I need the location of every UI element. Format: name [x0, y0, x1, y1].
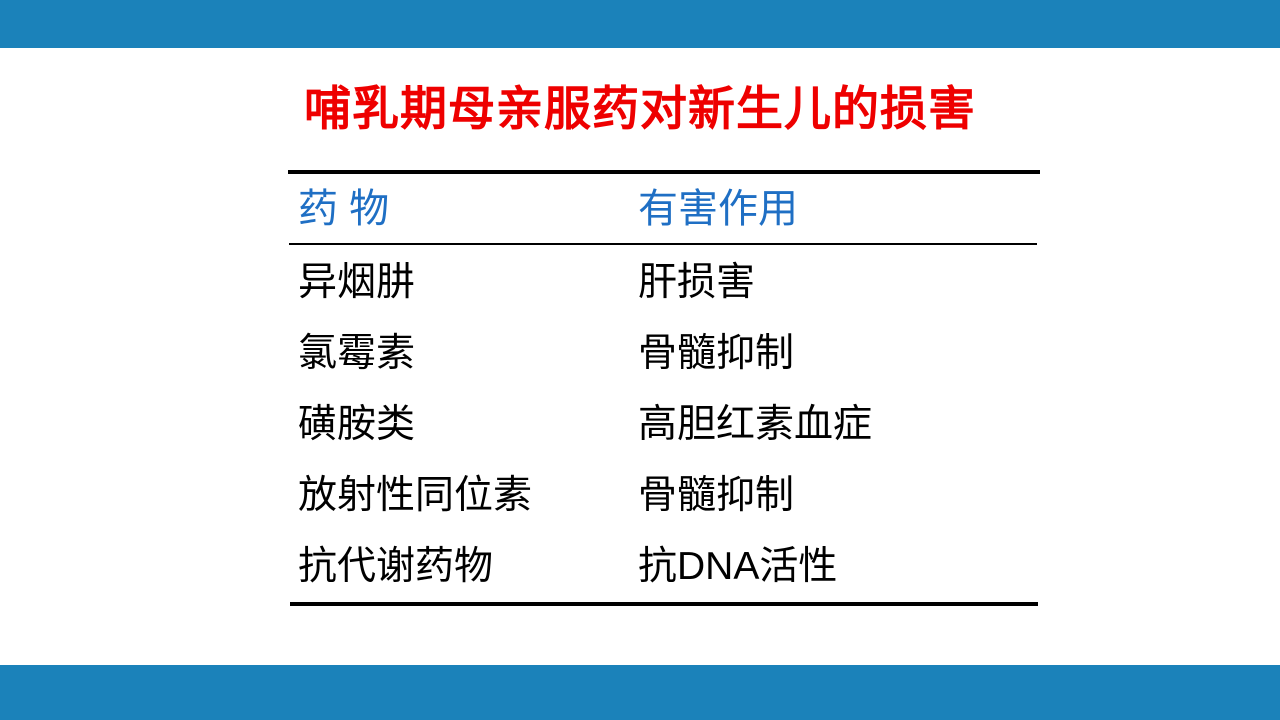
cell-drug-name: 异烟肼 — [288, 260, 638, 306]
table-header-row: 药 物 有害作用 — [288, 174, 1040, 243]
column-header-drug: 药 物 — [288, 186, 638, 232]
drug-harm-table: 药 物 有害作用 异烟肼 肝损害 氯霉素 骨髓抑制 磺胺类 高胆红素血症 放射性… — [288, 170, 1040, 606]
table-row: 放射性同位素 骨髓抑制 — [288, 460, 1040, 531]
table-row: 氯霉素 骨髓抑制 — [288, 318, 1040, 389]
cell-harmful-effect: 高胆红素血症 — [638, 402, 872, 448]
top-accent-band — [0, 0, 1280, 48]
column-header-effect: 有害作用 — [638, 186, 798, 232]
cell-drug-name: 磺胺类 — [288, 402, 638, 448]
cell-drug-name: 氯霉素 — [288, 331, 638, 377]
cell-harmful-effect: 骨髓抑制 — [638, 473, 794, 519]
table-header: 药 物 有害作用 — [288, 174, 1040, 243]
table-bottom-rule — [290, 602, 1038, 606]
table-row: 抗代谢药物 抗DNA活性 — [288, 531, 1040, 602]
page-title: 哺乳期母亲服药对新生儿的损害 — [0, 80, 1280, 138]
table-row: 异烟肼 肝损害 — [288, 247, 1040, 318]
cell-harmful-effect: 抗DNA活性 — [638, 544, 837, 590]
bottom-accent-band — [0, 665, 1280, 720]
table-body: 异烟肼 肝损害 氯霉素 骨髓抑制 磺胺类 高胆红素血症 放射性同位素 骨髓抑制 … — [288, 245, 1040, 602]
cell-drug-name: 放射性同位素 — [288, 473, 638, 519]
cell-drug-name: 抗代谢药物 — [288, 544, 638, 590]
table-row: 磺胺类 高胆红素血症 — [288, 389, 1040, 460]
cell-harmful-effect: 肝损害 — [638, 260, 755, 306]
cell-harmful-effect: 骨髓抑制 — [638, 331, 794, 377]
slide-canvas: 哺乳期母亲服药对新生儿的损害 药 物 有害作用 异烟肼 肝损害 氯霉素 骨髓抑制… — [0, 0, 1280, 720]
